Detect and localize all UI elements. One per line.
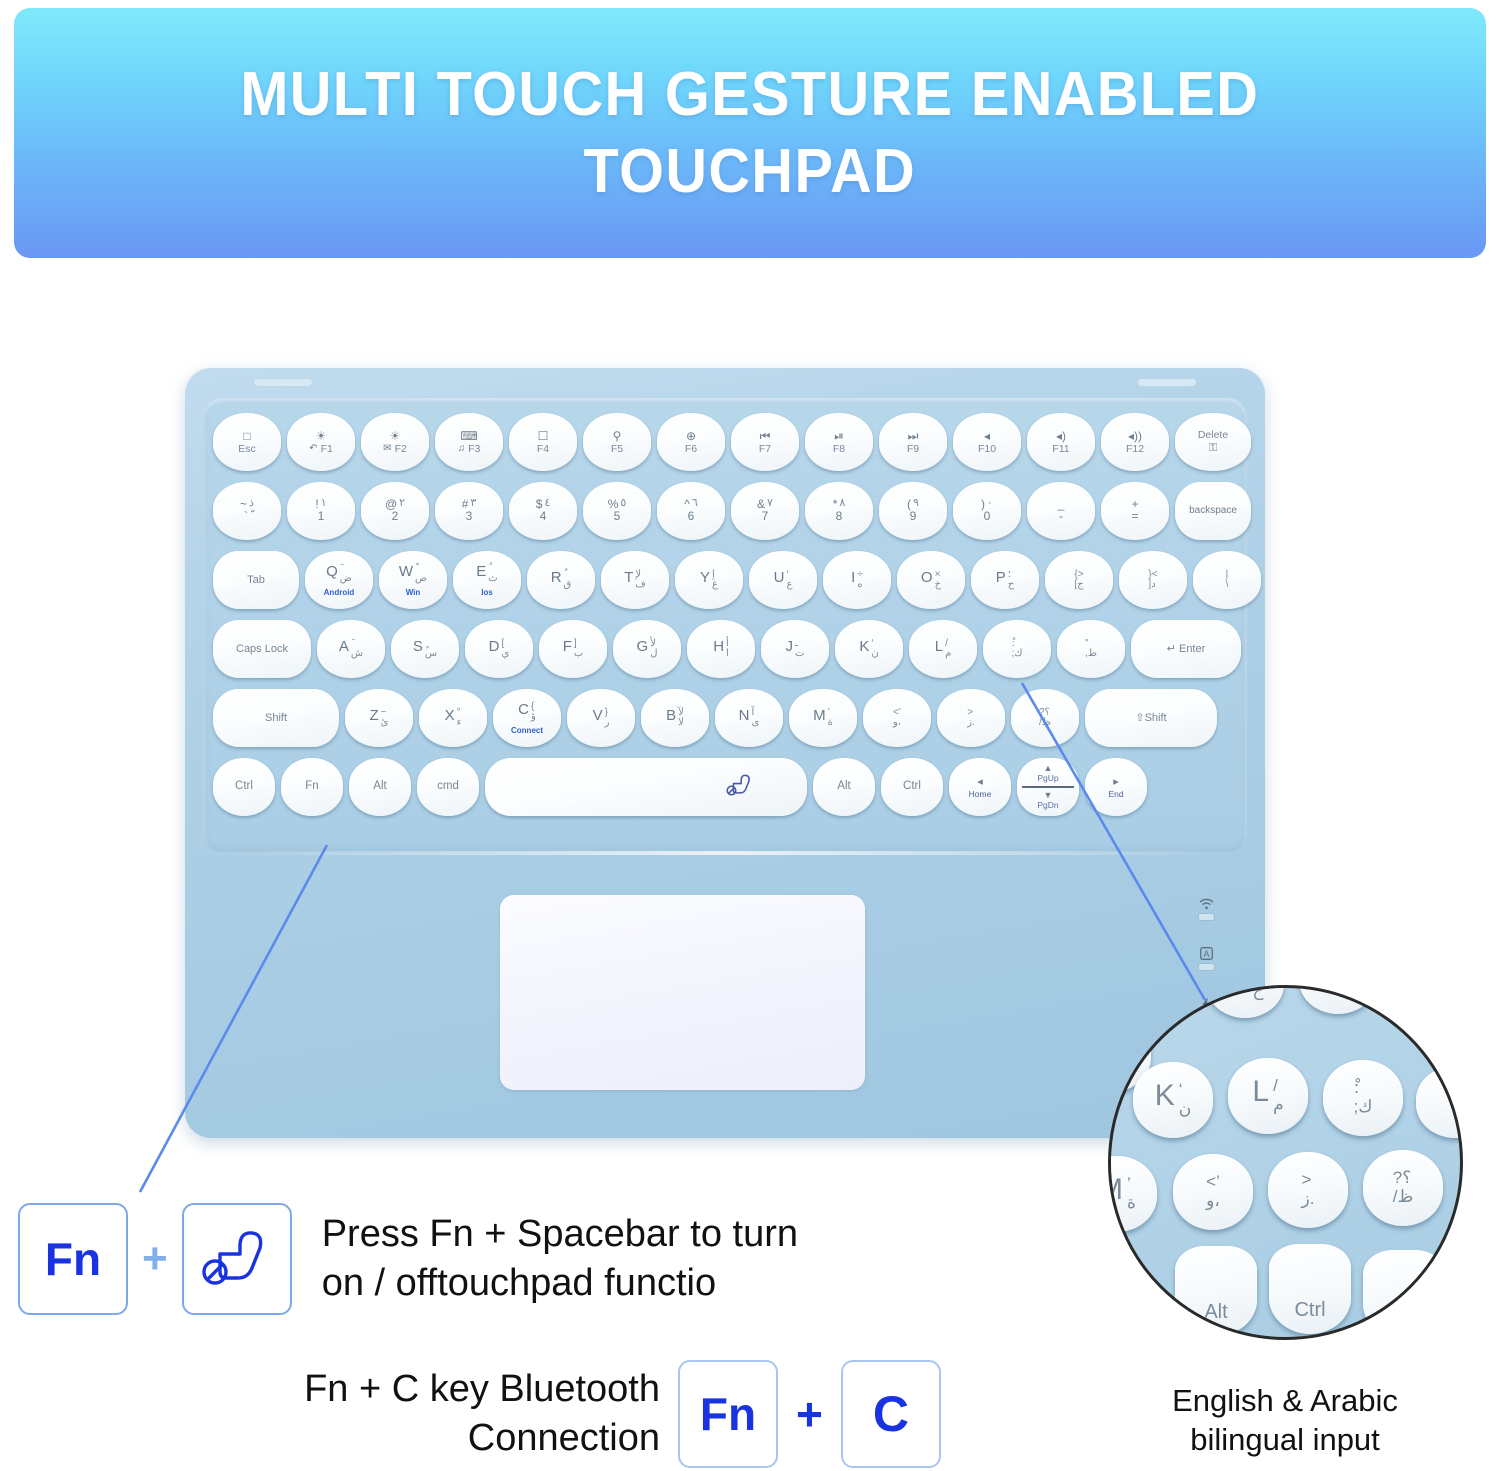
n-s2: ى <box>752 718 760 729</box>
backtick-bottom: `ّ <box>244 510 250 524</box>
j-key[interactable]: Jـت <box>761 620 829 678</box>
s-key[interactable]: Sٍس <box>391 620 459 678</box>
l-labels: L/م <box>935 639 952 660</box>
f9-key[interactable]: ⏭F9 <box>879 413 947 471</box>
q-s2: ض <box>340 574 352 585</box>
m-s2: ة <box>828 718 833 729</box>
three-digit: 3 <box>466 510 473 524</box>
right-end-glyph: ▸ <box>1113 775 1119 788</box>
g-key[interactable]: Gلأل <box>613 620 681 678</box>
semicolon-mag-s1: :ْ <box>1354 1079 1360 1098</box>
y-key[interactable]: Yإغ <box>675 551 743 609</box>
delete-key[interactable]: Delete⚿ <box>1175 413 1251 471</box>
f4-label-row: F4 <box>537 444 549 455</box>
e-key[interactable]: EُثIos <box>453 551 521 609</box>
shift-right-key[interactable]: ⇧Shift <box>1085 689 1217 747</box>
hinge-notch-left <box>253 378 313 387</box>
l-mag-s1: / <box>1273 1077 1278 1096</box>
bluetooth-callout-line1: Fn + C key Bluetooth <box>160 1365 660 1414</box>
k-mag-labels: K ‘ ن <box>1155 1081 1192 1118</box>
quote-key[interactable]: ",ط <box>1057 620 1125 678</box>
p-key[interactable]: P؛ح <box>971 551 1039 609</box>
f7-key[interactable]: ⏮F7 <box>731 413 799 471</box>
j-sublabels: ـت <box>795 639 804 660</box>
k-labels: K‘ن <box>859 639 878 660</box>
slash-s2: /ظ <box>1039 718 1051 729</box>
m-sublabels: ’ة <box>828 708 833 729</box>
h-key[interactable]: Hأا <box>687 620 755 678</box>
alt-right-label: Alt <box>837 781 850 793</box>
touchpad-callout: Fn + Press Fn + Spacebar to turn on / of… <box>18 1203 798 1315</box>
r-en: R <box>551 570 562 585</box>
c-sublabel: Connect <box>511 726 543 735</box>
k-mag-s2: ن <box>1179 1100 1191 1119</box>
slash-mag-labels: ?؟ /ظ <box>1393 1169 1413 1206</box>
f1-label-row: ↶F1 <box>309 444 333 455</box>
bracket-left-key[interactable]: {>[ج <box>1045 551 1113 609</box>
f12-key[interactable]: ◂))F12 <box>1101 413 1169 471</box>
f1-label: F1 <box>321 444 333 455</box>
banner-title-line2: TOUCHPAD <box>584 133 917 211</box>
bottom-key-row: CtrlFnAltcmdAltCtrl◂Home▲PgUp▼PgDn▸End <box>213 758 1147 816</box>
slash-labels: ?؟/ظ <box>1039 708 1051 729</box>
f11-key[interactable]: ◂)F11 <box>1027 413 1095 471</box>
u-mag-key: U ‘ خ <box>1206 985 1284 1018</box>
fn-label: Fn <box>305 781 318 793</box>
y-en: Y <box>700 570 710 585</box>
magnifier-caption-line2: bilingual input <box>1095 1421 1475 1460</box>
six-bottom: 6 <box>688 510 695 524</box>
touchpad[interactable] <box>500 895 865 1090</box>
a-sublabels: َش <box>351 639 363 660</box>
period-mag-s1: > <box>1302 1171 1312 1190</box>
comma-mag-key: <’ و، <box>1173 1154 1253 1230</box>
caps-lock-led-pill <box>1198 963 1215 971</box>
shift-left-key[interactable]: Shift <box>213 689 339 747</box>
bracket-right-labels: }<]د <box>1148 570 1157 591</box>
comma-mag-ar: <’ و، <box>1206 1173 1220 1210</box>
f2-icon2: ✉ <box>383 444 391 454</box>
slash-mag-s1: ?؟ <box>1393 1169 1412 1188</box>
l-mag-s2: م <box>1273 1096 1284 1115</box>
u-labels: U‘ع <box>774 570 793 591</box>
n-sublabels: آى <box>752 708 760 729</box>
f7-label-row: F7 <box>759 444 771 455</box>
header-banner: MULTI TOUCH GESTURE ENABLED TOUCHPAD <box>14 8 1486 258</box>
up-pgup-half[interactable]: ▲PgUp <box>1037 762 1058 785</box>
y-sublabels: إغ <box>712 570 718 591</box>
shift-key-row: ShiftZ~ئX°ءC{ؤConnectV}رBلآلاNآىM’ة<’و،>… <box>213 689 1217 747</box>
z-sublabels: ~ئ <box>381 708 389 729</box>
touchpad-gesture-icon <box>725 774 755 801</box>
f2-label-row: ✉F2 <box>383 444 407 455</box>
f4-label: F4 <box>537 444 549 455</box>
caps-lock-led: A <box>1198 947 1215 971</box>
v-s2: ر <box>605 718 610 729</box>
magnifier-caption-line1: English & Arabic <box>1095 1382 1475 1421</box>
z-key[interactable]: Z~ئ <box>345 689 413 747</box>
one-digit: 1 <box>318 510 325 524</box>
k-mag-ar: ‘ ن <box>1179 1081 1191 1118</box>
f3-key[interactable]: ⌨♫F3 <box>435 413 503 471</box>
f8-key[interactable]: ⏯F8 <box>805 413 873 471</box>
f5-key[interactable]: ⚲F5 <box>583 413 651 471</box>
a-key[interactable]: Aَش <box>317 620 385 678</box>
f5-label-row: F5 <box>611 444 623 455</box>
d-en: D <box>489 639 500 654</box>
ctrl-left-label: Ctrl <box>235 781 253 793</box>
spacebar-key[interactable] <box>485 758 807 816</box>
f-sublabels: ]ب <box>574 639 583 660</box>
t-en: T <box>624 570 633 585</box>
quote-mag-key-partial <box>1416 1066 1463 1138</box>
minus-key[interactable]: _- <box>1027 482 1095 540</box>
w-labels: Wًص <box>399 564 427 585</box>
esc-icon: □ <box>243 430 250 442</box>
four-arabic: ٤ <box>544 498 550 509</box>
f10-label-row: F10 <box>978 444 996 455</box>
w-key[interactable]: WًصWin <box>379 551 447 609</box>
right-end-key[interactable]: ▸End <box>1085 758 1147 816</box>
touchpad-callout-line1: Press Fn + Spacebar to turn <box>322 1210 798 1259</box>
fn-key[interactable]: Fn <box>281 758 343 816</box>
delete-label: Delete <box>1198 430 1228 441</box>
esc-key[interactable]: □Esc <box>213 413 281 471</box>
qwerty-key-row: TabQَضAndroidWًصWinEُثIosRُقTلإفYإغU‘عI÷… <box>213 551 1261 609</box>
five-key[interactable]: %٥5 <box>583 482 651 540</box>
f4-key[interactable]: ☐F4 <box>509 413 577 471</box>
u-key[interactable]: U‘ع <box>749 551 817 609</box>
shift-left-label: Shift <box>265 713 287 724</box>
semicolon-mag-key: :ْ ;ك <box>1323 1060 1403 1136</box>
four-digit: 4 <box>540 510 547 524</box>
a-labels: Aَش <box>339 639 363 660</box>
l-mag-key: L / م <box>1228 1058 1308 1134</box>
z-s2: ئ <box>381 718 389 729</box>
l-mag-ar: / م <box>1273 1077 1284 1114</box>
m-labels: M’ة <box>813 708 833 729</box>
c-key[interactable]: C{ؤConnect <box>493 689 561 747</box>
k-en: K <box>859 639 869 654</box>
f10-icon: ◂ <box>984 430 990 442</box>
zero-key[interactable]: )٠0 <box>953 482 1021 540</box>
nine-arabic: ٩ <box>913 498 919 509</box>
l-en: L <box>935 639 943 654</box>
semicolon-mag-labels: :ْ ;ك <box>1354 1079 1373 1116</box>
nine-key[interactable]: (٩9 <box>879 482 947 540</box>
left-home-glyph: ◂ <box>977 775 983 788</box>
shift-right-label: ⇧Shift <box>1135 713 1166 724</box>
comma-key[interactable]: <’و، <box>863 689 931 747</box>
extra-mag-key <box>1363 1250 1445 1340</box>
fn-key-box-label: Fn <box>45 1232 101 1286</box>
quote-s2: ,ط <box>1085 649 1097 660</box>
one-key[interactable]: !١1 <box>287 482 355 540</box>
bracket-left-sublabels: {>[ج <box>1074 570 1083 591</box>
comma-mag-s1: <’ <box>1206 1173 1220 1192</box>
z-labels: Z~ئ <box>370 708 389 729</box>
touchpad-icon-box[interactable] <box>182 1203 292 1315</box>
v-key[interactable]: V}ر <box>567 689 635 747</box>
f-key[interactable]: F]ب <box>539 620 607 678</box>
backspace-label: backspace <box>1189 506 1237 516</box>
v-en: V <box>593 708 603 723</box>
r-key[interactable]: Rُق <box>527 551 595 609</box>
comma-mag-labels: <’ و، <box>1206 1173 1220 1210</box>
bluetooth-callout-line2: Connection <box>160 1414 660 1463</box>
comma-labels: <’و، <box>893 708 901 729</box>
backtick-digit: ` <box>244 510 248 524</box>
ctrl-left-key[interactable]: Ctrl <box>213 758 275 816</box>
four-bottom: 4 <box>540 510 547 524</box>
u-mag-labels: U ‘ خ <box>1227 985 1264 1001</box>
m-mag-ar: ’ ة <box>1127 1175 1136 1212</box>
period-key[interactable]: >ز. <box>937 689 1005 747</box>
b-key[interactable]: Bلآلا <box>641 689 709 747</box>
l-key[interactable]: L/م <box>909 620 977 678</box>
y-labels: Yإغ <box>700 570 718 591</box>
bluetooth-callout: Fn + C key Bluetooth Connection Fn + C <box>160 1360 941 1468</box>
five-digit: 5 <box>614 510 621 524</box>
w-sublabel: Win <box>406 588 421 597</box>
ctrl-right-label: Ctrl <box>903 781 921 793</box>
s-sublabels: ٍس <box>425 639 437 660</box>
x-sublabels: °ء <box>457 708 462 729</box>
right-end-label: End <box>1108 789 1123 799</box>
backtick-key[interactable]: ~ذ`ّ <box>213 482 281 540</box>
bracket-left-s2: [ج <box>1074 580 1083 591</box>
cmd-key[interactable]: cmd <box>417 758 479 816</box>
bracket-left-labels: {>[ج <box>1074 570 1083 591</box>
bracket-right-key[interactable]: }<]د <box>1119 551 1187 609</box>
l-sublabels: /م <box>945 639 951 660</box>
f3-label: F3 <box>468 444 480 455</box>
f-en: F <box>563 639 572 654</box>
c-en: C <box>518 702 529 717</box>
one-bottom: 1 <box>318 510 325 524</box>
eight-arabic: ٨ <box>839 498 845 509</box>
equal-bottom: = <box>1131 510 1138 524</box>
k-s2: ن <box>871 649 878 660</box>
p-en: P <box>996 570 1006 585</box>
six-arabic: ٦ <box>692 498 698 509</box>
period-labels: >ز. <box>967 708 975 729</box>
u-en: U <box>774 570 785 585</box>
touchpad-gesture-icon <box>200 1228 274 1290</box>
f11-icon: ◂) <box>1056 430 1066 442</box>
t-key[interactable]: Tلإف <box>601 551 669 609</box>
number-key-row: ~ذ`ّ!١1@٢2#٣3$٤4%٥5^٦6&٧7*٨8(٩9)٠0_-+=ba… <box>213 482 1251 540</box>
w-s2: ص <box>415 574 427 585</box>
slash-key[interactable]: ?؟/ظ <box>1011 689 1079 747</box>
bluetooth-callout-text: Fn + C key Bluetooth Connection <box>160 1365 660 1464</box>
zero-digit: 0 <box>984 510 991 524</box>
n-labels: Nآى <box>739 708 760 729</box>
t-sublabels: لإف <box>635 570 645 591</box>
six-digit: 6 <box>688 510 695 524</box>
i-en: I <box>851 570 855 585</box>
q-sublabel: Android <box>324 588 355 597</box>
eight-digit: 8 <box>836 510 843 524</box>
s-s2: س <box>425 649 437 660</box>
seven-digit: 7 <box>762 510 769 524</box>
o-labels: O×خ <box>921 570 941 591</box>
m-mag-s1: ’ <box>1127 1175 1131 1194</box>
f6-label-row: F6 <box>685 444 697 455</box>
period-mag-key: > ز. <box>1268 1152 1348 1228</box>
i-mag-key <box>1299 985 1377 1014</box>
three-key[interactable]: #٣3 <box>435 482 503 540</box>
backspace-key[interactable]: backspace <box>1175 482 1251 540</box>
tab-key[interactable]: Tab <box>213 551 299 609</box>
caps-lock-key[interactable]: Caps Lock <box>213 620 311 678</box>
keyboard-product-image: □Esc☀↶F1☀✉F2⌨♫F3☐F4⚲F5⊕F6⏮F7⏯F8⏭F9◂F10◂)… <box>185 368 1265 1138</box>
j-labels: Jـت <box>786 639 805 660</box>
g-en: G <box>637 639 649 654</box>
left-home-label: Home <box>969 789 992 799</box>
cmd-label: cmd <box>437 781 459 793</box>
v-labels: V}ر <box>593 708 610 729</box>
z-en: Z <box>370 708 379 723</box>
zero-arabic: ٠ <box>987 498 993 509</box>
l-s2: م <box>945 649 951 660</box>
d-key[interactable]: D[ي <box>465 620 533 678</box>
o-sublabels: ×خ <box>935 570 941 591</box>
s-en: S <box>413 639 423 654</box>
u-mag-ar: ‘ خ <box>1252 985 1263 1001</box>
alt-right-key[interactable]: Alt <box>813 758 875 816</box>
banner-title-line1: MULTI TOUCH GESTURE ENABLED <box>241 56 1260 134</box>
f2-key[interactable]: ☀✉F2 <box>361 413 429 471</box>
r-s2: ق <box>564 580 572 591</box>
f3-icon2: ♫ <box>458 444 466 454</box>
x-en: X <box>445 708 455 723</box>
f6-icon: ⊕ <box>686 430 696 442</box>
f3-icon: ⌨ <box>460 430 477 442</box>
w-sublabels: ًص <box>415 564 427 585</box>
f4-icon: ☐ <box>538 430 549 442</box>
two-key[interactable]: @٢2 <box>361 482 429 540</box>
equal-digit: = <box>1131 510 1138 524</box>
f12-icon: ◂)) <box>1128 430 1142 442</box>
up-pgup-glyph: ▲ <box>1044 764 1053 773</box>
s-labels: Sٍس <box>413 639 437 660</box>
tab-label: Tab <box>247 575 265 586</box>
nine-bottom: 9 <box>910 510 917 524</box>
o-key[interactable]: O×خ <box>897 551 965 609</box>
svg-text:A: A <box>1203 949 1209 959</box>
bluetooth-signal-icon <box>1198 898 1215 910</box>
i-sublabels: ÷ه <box>857 570 863 591</box>
alt-left-label: Alt <box>373 781 386 793</box>
f9-label: F9 <box>907 444 919 455</box>
bt-fn-key-box[interactable]: Fn <box>678 1360 778 1468</box>
e-s2: ث <box>488 574 497 585</box>
period-sublabels: >ز. <box>967 708 975 729</box>
f10-key[interactable]: ◂F10 <box>953 413 1021 471</box>
e-en: E <box>476 564 486 579</box>
x-s2: ء <box>457 718 462 729</box>
w-en: W <box>399 564 413 579</box>
f9-label-row: F9 <box>907 444 919 455</box>
f1-key[interactable]: ☀↶F1 <box>287 413 355 471</box>
two-bottom: 2 <box>392 510 399 524</box>
c-s2: ؤ <box>531 712 536 723</box>
four-key[interactable]: $٤4 <box>509 482 577 540</box>
f7-label: F7 <box>759 444 771 455</box>
v-sublabels: }ر <box>605 708 610 729</box>
m-mag-key: M ’ ة <box>1108 1156 1157 1232</box>
k-mag-en: K <box>1155 1081 1175 1111</box>
f12-label: F12 <box>1126 444 1144 455</box>
down-pgdn-half[interactable]: ▼PgDn <box>1037 789 1058 812</box>
k-key[interactable]: K‘ن <box>835 620 903 678</box>
f6-key[interactable]: ⊕F6 <box>657 413 725 471</box>
touchpad-callout-text: Press Fn + Spacebar to turn on / offtouc… <box>322 1210 798 1307</box>
minus-digit: - <box>1059 510 1063 524</box>
comma-s2: و، <box>893 718 901 729</box>
f-labels: F]ب <box>563 639 584 660</box>
bt-c-key-box[interactable]: C <box>841 1360 941 1468</box>
eight-key[interactable]: *٨8 <box>805 482 873 540</box>
semicolon-key[interactable]: :ْ;ك <box>983 620 1051 678</box>
d-s2: ي <box>502 649 510 660</box>
six-key[interactable]: ^٦6 <box>657 482 725 540</box>
f2-label: F2 <box>395 444 407 455</box>
f1-icon2: ↶ <box>309 444 317 454</box>
t-labels: Tلإف <box>624 570 646 591</box>
q-key[interactable]: QَضAndroid <box>305 551 373 609</box>
enter-key[interactable]: ↵ Enter <box>1131 620 1241 678</box>
f3-label-row: ♫F3 <box>458 444 481 455</box>
arrow-split-divider <box>1022 786 1074 788</box>
r-sublabels: ُق <box>564 570 572 591</box>
alt-mag-label: Alt <box>1204 1301 1227 1324</box>
ctrl-right-key[interactable]: Ctrl <box>881 758 943 816</box>
equal-key[interactable]: += <box>1101 482 1169 540</box>
i-labels: I÷ه <box>851 570 863 591</box>
f8-icon: ⏯ <box>834 430 844 442</box>
seven-key[interactable]: &٧7 <box>731 482 799 540</box>
deck-lip <box>203 851 1247 855</box>
updown-split-key[interactable]: ▲PgUp▼PgDn <box>1017 758 1079 816</box>
k-mag-s1: ‘ <box>1179 1081 1183 1100</box>
bracket-right-sublabels: }<]د <box>1148 570 1157 591</box>
m-key[interactable]: M’ة <box>789 689 857 747</box>
backslash-key[interactable]: |\ <box>1193 551 1261 609</box>
left-home-key[interactable]: ◂Home <box>949 758 1011 816</box>
m-en: M <box>813 708 826 723</box>
three-arabic: ٣ <box>470 498 476 509</box>
zero-bottom: 0 <box>984 510 991 524</box>
slash-sublabels: ?؟/ظ <box>1039 708 1051 729</box>
slash-mag-ar: ?؟ /ظ <box>1393 1169 1413 1206</box>
j-s2: ت <box>795 649 804 660</box>
q-sublabels: َض <box>340 564 352 585</box>
home-key-row: Caps LockAَشSٍسD[يF]بGلألHأاJـتK‘نL/م:ْ;… <box>213 620 1241 678</box>
seven-bottom: 7 <box>762 510 769 524</box>
u-s2: ع <box>786 580 792 591</box>
alt-left-key[interactable]: Alt <box>349 758 411 816</box>
hinge-notch-right <box>1137 378 1197 387</box>
n-key[interactable]: Nآى <box>715 689 783 747</box>
r-labels: Rُق <box>551 570 572 591</box>
fn-key-box[interactable]: Fn <box>18 1203 128 1315</box>
lock-icon: ⚿ <box>1209 443 1217 454</box>
nine-digit: 9 <box>910 510 917 524</box>
x-key[interactable]: X°ء <box>419 689 487 747</box>
i-key[interactable]: I÷ه <box>823 551 891 609</box>
